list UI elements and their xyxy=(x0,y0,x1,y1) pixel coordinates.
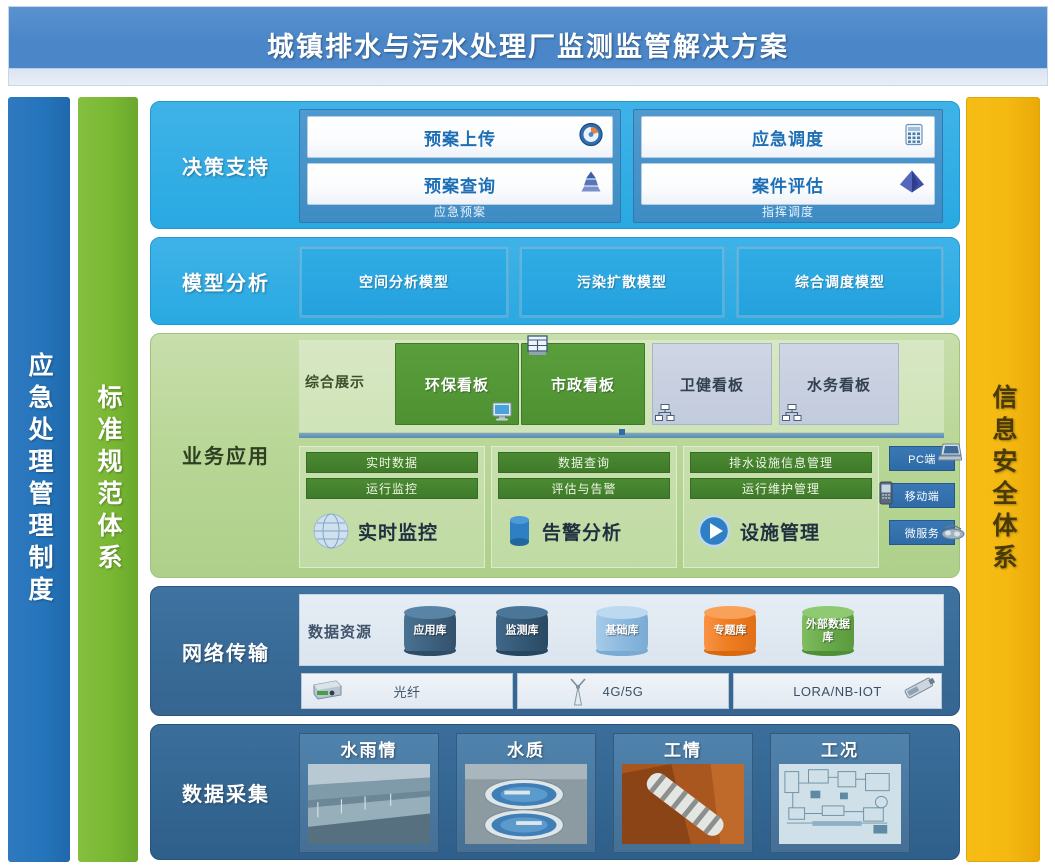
gear-icon xyxy=(940,522,966,542)
model-box-pollution-diffusion[interactable]: 污染扩散模型 xyxy=(519,246,725,318)
business-chip-realtime-data[interactable]: 实时数据 xyxy=(306,452,478,473)
collection-card-works-status[interactable]: 工情 xyxy=(613,733,753,853)
kanban-strip-label: 综合展示 xyxy=(305,372,389,392)
kanban-municipal[interactable]: 市政看板 xyxy=(521,343,645,425)
decision-group-command-dispatch-label: 指挥调度 xyxy=(634,202,942,221)
layer-model-analysis-label: 模型分析 xyxy=(161,238,291,324)
collection-card-hydrology-label: 水雨情 xyxy=(300,734,438,762)
database-basic-label: 基础库 xyxy=(596,625,648,638)
business-chip-operation-maintenance-label: 运行维护管理 xyxy=(742,480,820,497)
business-chip-operation-monitoring-label: 运行监控 xyxy=(366,480,418,497)
database-external[interactable]: 外部数据库 xyxy=(802,606,854,656)
antenna-icon xyxy=(566,676,590,708)
database-basic[interactable]: 基础库 xyxy=(596,606,648,656)
kanban-water-affairs-label: 水务看板 xyxy=(807,374,871,395)
business-column-facility: 排水设施信息管理 运行维护管理 设施管理 xyxy=(683,446,879,568)
transport-lora[interactable]: LORA/NB-IOT xyxy=(733,673,942,709)
database-monitoring[interactable]: 监测库 xyxy=(496,606,548,656)
transport-cellular-label: 4G/5G xyxy=(603,684,644,699)
business-main-realtime-monitoring[interactable]: 实时监控 xyxy=(300,501,484,561)
decision-group-command-dispatch: 应急调度 案件评估 xyxy=(633,109,943,223)
network-icon xyxy=(655,404,675,422)
business-chip-assessment-alarm[interactable]: 评估与告警 xyxy=(498,478,670,499)
gauge-icon xyxy=(578,122,604,153)
collection-card-works-status-label: 工情 xyxy=(614,734,752,762)
layer-decision-support: 决策支持 预案上传 预案查询 xyxy=(150,101,960,229)
kanban-environment[interactable]: 环保看板 xyxy=(395,343,519,425)
business-column-realtime: 实时数据 运行监控 实时监控 xyxy=(299,446,485,568)
database-application-label: 应用库 xyxy=(404,625,456,638)
kanban-strip: 综合展示 环保看板 市政看板 xyxy=(299,340,944,432)
decision-button-emergency-dispatch[interactable]: 应急调度 xyxy=(641,116,935,158)
kanban-municipal-label: 市政看板 xyxy=(551,374,615,395)
layer-network-transmission-label: 网络传输 xyxy=(161,587,291,715)
device-column: PC端 移动端 xyxy=(889,446,955,557)
pillar-emergency-management-label: 应急处理管理制度 xyxy=(21,352,57,608)
decision-button-plan-upload-label: 预案上传 xyxy=(424,125,496,150)
pillar-emergency-management: 应急处理管理制度 xyxy=(8,97,70,862)
device-button-microservice[interactable]: 微服务 xyxy=(889,520,955,545)
decision-group-emergency-plan-label: 应急预案 xyxy=(300,202,620,221)
layer-business-application: 业务应用 综合展示 环保看板 市政看板 xyxy=(150,333,960,578)
network-icon xyxy=(782,404,802,422)
pipeline-trench-photo xyxy=(622,764,744,844)
model-box-pollution-diffusion-label: 污染扩散模型 xyxy=(577,272,667,292)
kanban-environment-label: 环保看板 xyxy=(425,374,489,395)
device-button-microservice-label: 微服务 xyxy=(905,525,940,541)
device-button-mobile[interactable]: 移动端 xyxy=(889,483,955,508)
collection-card-operating-condition[interactable]: 工况 xyxy=(770,733,910,853)
globe-icon xyxy=(310,510,352,552)
calculator-icon xyxy=(902,122,926,153)
layer-data-collection: 数据采集 水雨情 xyxy=(150,724,960,860)
business-chip-data-query[interactable]: 数据查询 xyxy=(498,452,670,473)
device-button-pc-label: PC端 xyxy=(908,451,936,467)
database-icon xyxy=(502,510,536,552)
pillar-standards-system: 标准规范体系 xyxy=(78,97,138,862)
device-button-mobile-label: 移动端 xyxy=(905,488,940,504)
transport-fiber[interactable]: 光纤 xyxy=(301,673,513,709)
layer-decision-support-label: 决策支持 xyxy=(161,102,291,228)
model-box-integrated-dispatch[interactable]: 综合调度模型 xyxy=(736,246,944,318)
kanban-divider xyxy=(299,433,944,438)
database-monitoring-label: 监测库 xyxy=(496,625,548,638)
decision-button-emergency-dispatch-label: 应急调度 xyxy=(752,125,824,150)
pillar-information-security: 信息安全体系 xyxy=(966,97,1040,862)
business-chip-data-query-label: 数据查询 xyxy=(558,454,610,471)
model-box-integrated-dispatch-label: 综合调度模型 xyxy=(795,272,885,292)
laptop-icon xyxy=(938,442,962,462)
kanban-health[interactable]: 卫健看板 xyxy=(652,343,772,425)
business-chip-drainage-facility-info[interactable]: 排水设施信息管理 xyxy=(690,452,872,473)
transport-fiber-label: 光纤 xyxy=(393,682,420,701)
pyramid-icon xyxy=(578,169,604,200)
database-thematic-label: 专题库 xyxy=(704,625,756,638)
decision-button-case-assessment[interactable]: 案件评估 xyxy=(641,163,935,205)
canal-photo xyxy=(308,764,430,844)
kanban-health-label: 卫健看板 xyxy=(680,374,744,395)
fiber-icon xyxy=(310,678,344,702)
pillar-information-security-label: 信息安全体系 xyxy=(985,384,1021,576)
layer-business-application-label: 业务应用 xyxy=(161,394,291,514)
data-resource-panel: 数据资源 应用库 监测库 基础库 xyxy=(299,594,944,666)
decision-button-plan-upload[interactable]: 预案上传 xyxy=(307,116,613,158)
layer-network-transmission: 网络传输 数据资源 应用库 监测库 xyxy=(150,586,960,716)
mobile-icon xyxy=(878,481,894,505)
page-title-bar: 城镇排水与污水处理厂监测监管解决方案 xyxy=(8,6,1048,86)
business-main-alarm-analysis[interactable]: 告警分析 xyxy=(492,501,676,561)
business-chip-operation-monitoring[interactable]: 运行监控 xyxy=(306,478,478,499)
collection-card-operating-condition-label: 工况 xyxy=(771,734,909,762)
collection-card-water-quality-label: 水质 xyxy=(457,734,595,762)
device-button-pc[interactable]: PC端 xyxy=(889,446,955,471)
decision-button-plan-query[interactable]: 预案查询 xyxy=(307,163,613,205)
business-main-facility-management-label: 设施管理 xyxy=(740,518,820,545)
play-icon xyxy=(694,510,734,552)
transport-lora-label: LORA/NB-IOT xyxy=(793,684,882,699)
database-external-label: 外部数据库 xyxy=(802,618,854,643)
business-main-alarm-analysis-label: 告警分析 xyxy=(542,518,622,545)
kanban-water-affairs[interactable]: 水务看板 xyxy=(779,343,899,425)
page-title: 城镇排水与污水处理厂监测监管解决方案 xyxy=(267,25,789,64)
business-main-facility-management[interactable]: 设施管理 xyxy=(684,501,878,561)
decision-group-emergency-plan: 预案上传 预案查询 xyxy=(299,109,621,223)
data-resource-label: 数据资源 xyxy=(308,621,372,642)
model-box-spatial-analysis-label: 空间分析模型 xyxy=(359,272,449,292)
business-chip-assessment-alarm-label: 评估与告警 xyxy=(551,480,616,497)
collection-card-water-quality[interactable]: 水质 xyxy=(456,733,596,853)
model-box-spatial-analysis[interactable]: 空间分析模型 xyxy=(299,246,509,318)
business-column-query: 数据查询 评估与告警 告警分析 xyxy=(491,446,677,568)
solution-architecture-diagram: 城镇排水与污水处理厂监测监管解决方案 应急处理管理制度 标准规范体系 信息安全体… xyxy=(0,0,1055,868)
layer-model-analysis: 模型分析 空间分析模型 污染扩散模型 综合调度模型 xyxy=(150,237,960,325)
monitor-icon xyxy=(492,402,514,422)
sensor-icon xyxy=(901,674,939,702)
business-chip-realtime-data-label: 实时数据 xyxy=(366,454,418,471)
decision-button-case-assessment-label: 案件评估 xyxy=(752,172,824,197)
business-main-realtime-monitoring-label: 实时监控 xyxy=(358,518,438,545)
scada-diagram-photo xyxy=(779,764,901,844)
sedimentation-tank-photo xyxy=(465,764,587,844)
layer-data-collection-label: 数据采集 xyxy=(161,725,291,859)
transport-cellular[interactable]: 4G/5G xyxy=(517,673,729,709)
transport-row: 光纤 4G/5G LORA/NB-IOT xyxy=(299,673,944,709)
business-chip-operation-maintenance[interactable]: 运行维护管理 xyxy=(690,478,872,499)
database-thematic[interactable]: 专题库 xyxy=(704,606,756,656)
database-application[interactable]: 应用库 xyxy=(404,606,456,656)
decision-button-plan-query-label: 预案查询 xyxy=(424,172,496,197)
window-icon xyxy=(526,335,550,357)
diamond-icon xyxy=(898,169,926,200)
collection-card-hydrology[interactable]: 水雨情 xyxy=(299,733,439,853)
pillar-standards-system-label: 标准规范体系 xyxy=(90,384,126,576)
business-chip-drainage-facility-info-label: 排水设施信息管理 xyxy=(729,454,833,471)
